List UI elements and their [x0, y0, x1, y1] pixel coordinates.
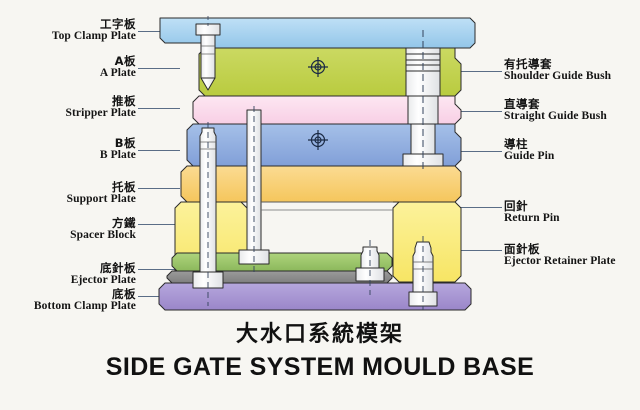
- label-zh: 面針板: [504, 243, 638, 255]
- label-en: Ejector Retainer Plate: [504, 255, 638, 267]
- label-en: Guide Pin: [504, 150, 638, 162]
- label-return-pin: 回針 Return Pin: [504, 200, 638, 225]
- part-return-pin-left: [200, 128, 216, 272]
- label-guide-pin: 導柱 Guide Pin: [504, 138, 638, 163]
- label-b-plate: B板 B Plate: [6, 137, 136, 162]
- label-zh: 底針板: [6, 262, 136, 274]
- label-straight-guide-bush: 直導套 Straight Guide Bush: [504, 98, 638, 123]
- mould-base-assembly: [155, 10, 495, 315]
- label-stripper-plate: 推板 Stripper Plate: [6, 95, 136, 120]
- label-en: Straight Guide Bush: [504, 110, 638, 122]
- label-zh: 托板: [6, 181, 136, 193]
- detail-lines: [261, 202, 393, 210]
- label-en: Ejector Plate: [6, 274, 136, 286]
- label-zh: 回針: [504, 200, 638, 212]
- label-zh: B板: [6, 137, 136, 149]
- label-zh: 底板: [6, 288, 136, 300]
- label-zh: 推板: [6, 95, 136, 107]
- label-en: Spacer Block: [6, 229, 136, 241]
- label-support-plate: 托板 Support Plate: [6, 181, 136, 206]
- label-zh: 直導套: [504, 98, 638, 110]
- cap-screw-shank: [201, 35, 215, 78]
- label-ejector-plate: 底針板 Ejector Plate: [6, 262, 136, 287]
- label-zh: 導柱: [504, 138, 638, 150]
- label-zh: 有托導套: [504, 58, 638, 70]
- label-a-plate: A板 A Plate: [6, 55, 136, 80]
- label-top-clamp-plate: 工字板 Top Clamp Plate: [6, 18, 136, 43]
- label-en: A Plate: [6, 67, 136, 79]
- diagram-root: 工字板 Top Clamp Plate A板 A Plate 推板 Stripp…: [0, 0, 640, 410]
- label-ejector-retainer-plate: 面針板 Ejector Retainer Plate: [504, 243, 638, 268]
- label-zh: 工字板: [6, 18, 136, 30]
- label-zh: 方鐵: [6, 217, 136, 229]
- title-zh: 大水口系統模架: [0, 316, 640, 348]
- label-zh: A板: [6, 55, 136, 67]
- title-block: 大水口系統模架 SIDE GATE SYSTEM MOULD BASE: [0, 316, 640, 382]
- label-bottom-clamp-plate: 底板 Bottom Clamp Plate: [6, 288, 136, 313]
- label-spacer-block: 方鐵 Spacer Block: [6, 217, 136, 242]
- label-en: Shoulder Guide Bush: [504, 70, 638, 82]
- title-en: SIDE GATE SYSTEM MOULD BASE: [0, 353, 640, 382]
- label-en: Top Clamp Plate: [6, 30, 136, 42]
- label-shoulder-guide-bush: 有托導套 Shoulder Guide Bush: [504, 58, 638, 83]
- label-en: B Plate: [6, 149, 136, 161]
- label-en: Support Plate: [6, 193, 136, 205]
- label-en: Return Pin: [504, 212, 638, 224]
- label-en: Bottom Clamp Plate: [6, 300, 136, 312]
- part-support-plate: [181, 166, 461, 202]
- part-ejector-pin-centre: [247, 110, 261, 258]
- label-en: Stripper Plate: [6, 107, 136, 119]
